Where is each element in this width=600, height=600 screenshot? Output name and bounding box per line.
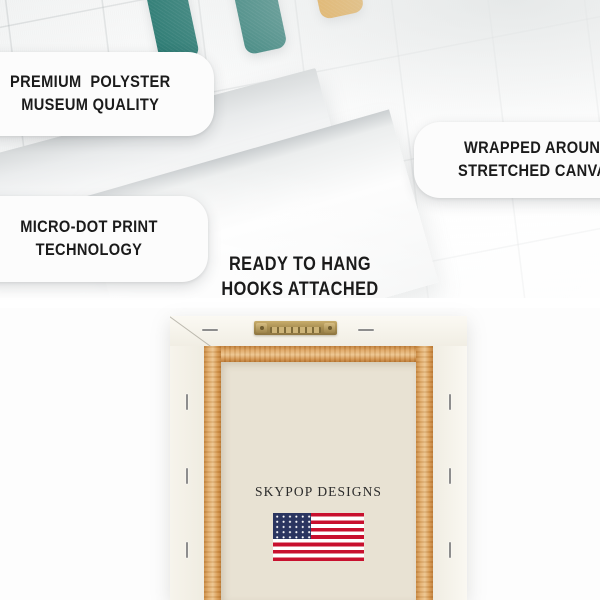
hanger-teeth xyxy=(270,327,321,333)
callout-line-1: WRAPPED AROUND xyxy=(464,137,600,160)
staple-left xyxy=(186,468,188,484)
staple-left xyxy=(186,542,188,558)
staple-top xyxy=(202,329,218,331)
canvas-inner-back xyxy=(221,362,416,600)
flag-stars xyxy=(273,513,311,539)
staple-right xyxy=(449,542,451,558)
heading-line-1: READY TO HANG xyxy=(42,252,558,277)
callout-premium-polyster: PREMIUM POLYSTER MUSEUM QUALITY xyxy=(0,52,214,136)
canvas-back-product: SKYPOP DESIGNS xyxy=(170,316,467,600)
sawtooth-hanger-icon xyxy=(254,321,337,335)
staple-top xyxy=(358,329,374,331)
stretcher-bar-top xyxy=(204,346,433,362)
ready-to-hang-heading: READY TO HANG HOOKS ATTACHED xyxy=(0,252,600,302)
infographic-root: PREMIUM POLYSTER MUSEUM QUALITY MICRO-DO… xyxy=(0,0,600,600)
callout-wrapped-around-stretched-canvas: WRAPPED AROUND STRETCHED CANVAS xyxy=(414,122,600,198)
callout-line-1: PREMIUM POLYSTER xyxy=(10,71,170,94)
us-flag-icon xyxy=(273,513,364,561)
callout-line-1: MICRO-DOT PRINT xyxy=(20,216,158,239)
stretcher-bar-left xyxy=(204,346,221,600)
staple-right xyxy=(449,394,451,410)
heading-line-2: HOOKS ATTACHED xyxy=(42,277,558,302)
hanger-screw-plate-right xyxy=(324,323,335,333)
stretcher-bar-right xyxy=(416,346,433,600)
flag-union xyxy=(273,513,311,539)
staple-left xyxy=(186,394,188,410)
callout-line-2: STRETCHED CANVAS xyxy=(458,160,600,183)
callout-line-2: MUSEUM QUALITY xyxy=(21,94,159,117)
hanger-screw-plate-left xyxy=(256,323,267,333)
brand-logo-text: SKYPOP DESIGNS xyxy=(221,484,416,500)
staple-right xyxy=(449,468,451,484)
